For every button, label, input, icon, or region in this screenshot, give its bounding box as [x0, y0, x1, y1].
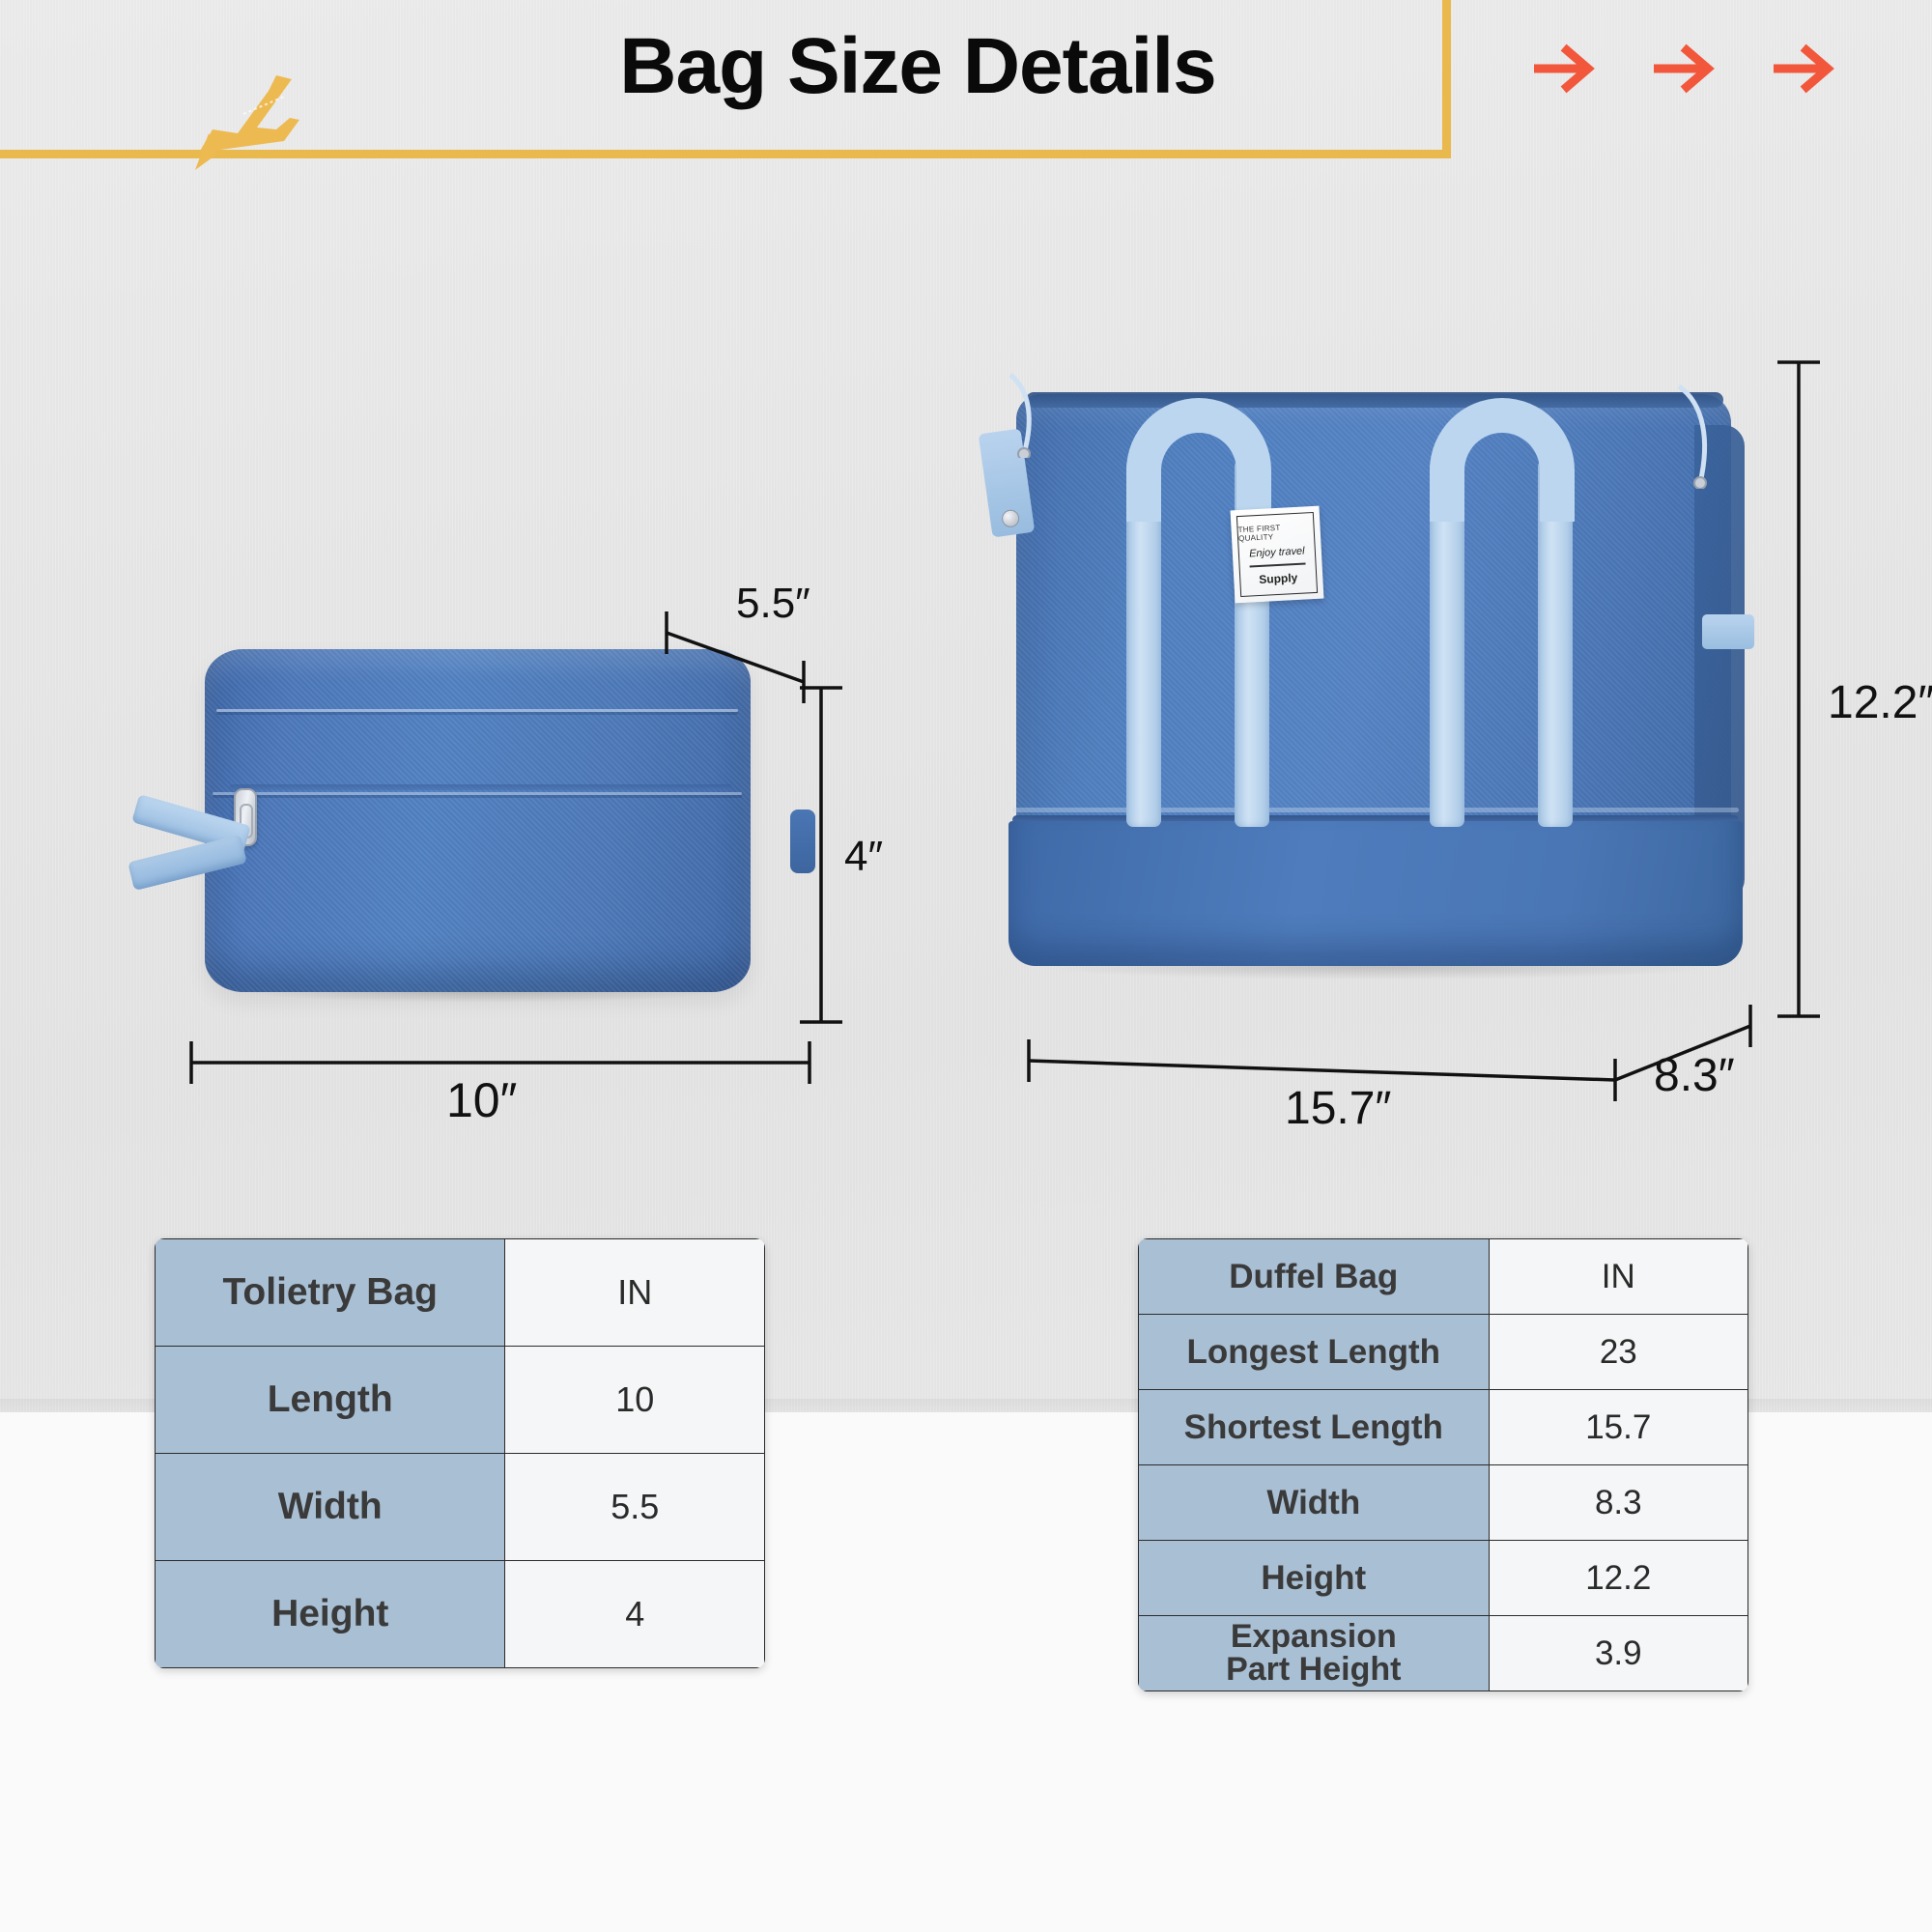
label-patch-bottom-text: Supply [1259, 571, 1298, 586]
duffel-spec-table: Duffel Bag IN Longest Length 23 Shortest… [1138, 1238, 1748, 1691]
duffel-bag-expansion-section [1009, 821, 1743, 966]
table-row: ExpansionPart Height 3.9 [1139, 1616, 1748, 1691]
row-value-expansion-part-height: 3.9 [1489, 1616, 1747, 1691]
row-label-width: Width [1139, 1465, 1490, 1541]
duffel-table-title: Duffel Bag [1139, 1239, 1490, 1315]
duffel-table-unit: IN [1489, 1239, 1747, 1315]
row-value-longest-length: 23 [1489, 1315, 1747, 1390]
table-row: Length 10 [156, 1347, 765, 1454]
infographic-page: Bag Size Details [0, 0, 1932, 1932]
label-patch-top-text: THE FIRST QUALITY [1237, 522, 1314, 543]
table-row: Width 5.5 [156, 1454, 765, 1561]
row-value-width: 8.3 [1489, 1465, 1747, 1541]
table-header-row: Duffel Bag IN [1139, 1239, 1748, 1315]
toiletry-height-callout: 4″ [844, 833, 883, 881]
page-title: Bag Size Details [541, 21, 1294, 112]
label-patch-inner: THE FIRST QUALITY Enjoy travel Supply [1236, 512, 1318, 597]
toiletry-bag-body [205, 649, 751, 992]
duffel-bag-image: THE FIRST QUALITY Enjoy travel Supply [976, 367, 1777, 1043]
duffel-height-callout: 12.2″ [1828, 676, 1932, 729]
toiletry-bag-strap [133, 810, 257, 902]
table-row: Height 12.2 [1139, 1541, 1748, 1616]
row-value-length: 10 [505, 1347, 765, 1454]
arrow-group [1534, 39, 1891, 99]
row-label-height: Height [1139, 1541, 1490, 1616]
airplane-icon [184, 70, 357, 176]
row-value-height: 4 [505, 1561, 765, 1668]
table-row: Shortest Length 15.7 [1139, 1390, 1748, 1465]
table-row: Height 4 [156, 1561, 765, 1668]
duffel-length-callout: 15.7″ [1285, 1082, 1391, 1135]
strap-segment-lower [128, 835, 247, 891]
toiletry-table-title: Tolietry Bag [156, 1239, 505, 1347]
arrow-right-icon [1654, 43, 1723, 95]
duffel-bag-top-zipper [1026, 392, 1723, 408]
arrow-right-icon [1534, 43, 1604, 95]
row-value-height: 12.2 [1489, 1541, 1747, 1616]
table-row: Longest Length 23 [1139, 1315, 1748, 1390]
label-patch-divider [1250, 563, 1306, 568]
toiletry-bag-top-seam [216, 709, 738, 712]
row-value-width: 5.5 [505, 1454, 765, 1561]
toiletry-bag-side-tab [790, 810, 815, 873]
toiletry-bag-pocket-seam [213, 792, 742, 795]
toiletry-bag-zipper [230, 784, 732, 790]
row-label-width: Width [156, 1454, 505, 1561]
zipper-cord-left [1005, 373, 1059, 458]
row-label-height: Height [156, 1561, 505, 1668]
duffel-side-tab-right [1702, 614, 1754, 649]
toiletry-bag-image [145, 638, 802, 1043]
table-header-row: Tolietry Bag IN [156, 1239, 765, 1347]
arrow-right-icon [1774, 43, 1843, 95]
row-label-length: Length [156, 1347, 505, 1454]
row-label-shortest-length: Shortest Length [1139, 1390, 1490, 1465]
toiletry-width-callout: 5.5″ [736, 580, 810, 628]
row-value-shortest-length: 15.7 [1489, 1390, 1747, 1465]
duffel-brand-label-patch: THE FIRST QUALITY Enjoy travel Supply [1231, 506, 1324, 604]
expansion-seam [1012, 808, 1739, 812]
label-patch-middle-text: Enjoy travel [1249, 546, 1305, 560]
row-label-longest-length: Longest Length [1139, 1315, 1490, 1390]
toiletry-spec-table: Tolietry Bag IN Length 10 Width 5.5 Heig… [155, 1238, 765, 1668]
duffel-depth-callout: 8.3″ [1654, 1049, 1735, 1102]
row-label-expansion-part-height: ExpansionPart Height [1139, 1616, 1490, 1691]
toiletry-table-unit: IN [505, 1239, 765, 1347]
zipper-cord-right [1671, 383, 1729, 489]
toiletry-length-callout: 10″ [446, 1072, 517, 1128]
table-row: Width 8.3 [1139, 1465, 1748, 1541]
